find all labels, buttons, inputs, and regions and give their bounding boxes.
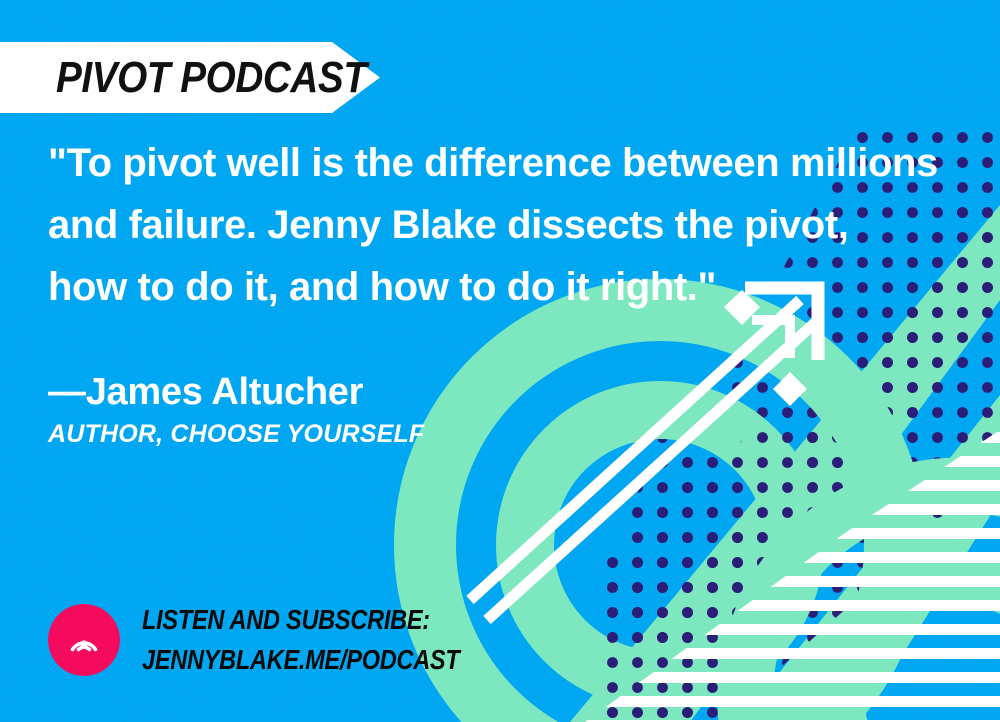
halftone-inside-rings [560,430,900,722]
cta-line-2: JENNYBLAKE.ME/PODCAST [142,640,459,680]
podcast-title-ribbon: PIVOT PODCAST [0,42,380,113]
attribution-name: —James Altucher [48,368,424,416]
quote-line-3: how to do it, and how to do it right." [48,256,953,318]
quote-line-2: and failure. Jenny Blake dissects the pi… [48,194,953,256]
attribution-role: AUTHOR, CHOOSE YOURSELF [48,420,424,449]
quote-line-1: "To pivot well is the difference between… [48,132,953,194]
diagonal-arrow-icon [470,288,818,620]
podcast-badge [48,604,120,676]
halftone-inner-square [600,430,780,660]
cta-line-1: LISTEN AND SUBSCRIBE: [142,600,459,640]
podcast-quote-card: PIVOT PODCAST "To pivot well is the diff… [0,0,1000,722]
podcast-title: PIVOT PODCAST [56,53,367,103]
target-rings-secondary [745,485,1000,722]
subscribe-cta: LISTEN AND SUBSCRIBE: JENNYBLAKE.ME/PODC… [142,600,459,680]
podcast-broadcast-icon [62,618,106,662]
quote-text: "To pivot well is the difference between… [48,132,953,318]
quote-attribution: —James Altucher AUTHOR, CHOOSE YOURSELF [48,368,424,449]
subscribe-footer: LISTEN AND SUBSCRIBE: JENNYBLAKE.ME/PODC… [48,600,520,680]
white-stripe-band [585,420,1000,722]
